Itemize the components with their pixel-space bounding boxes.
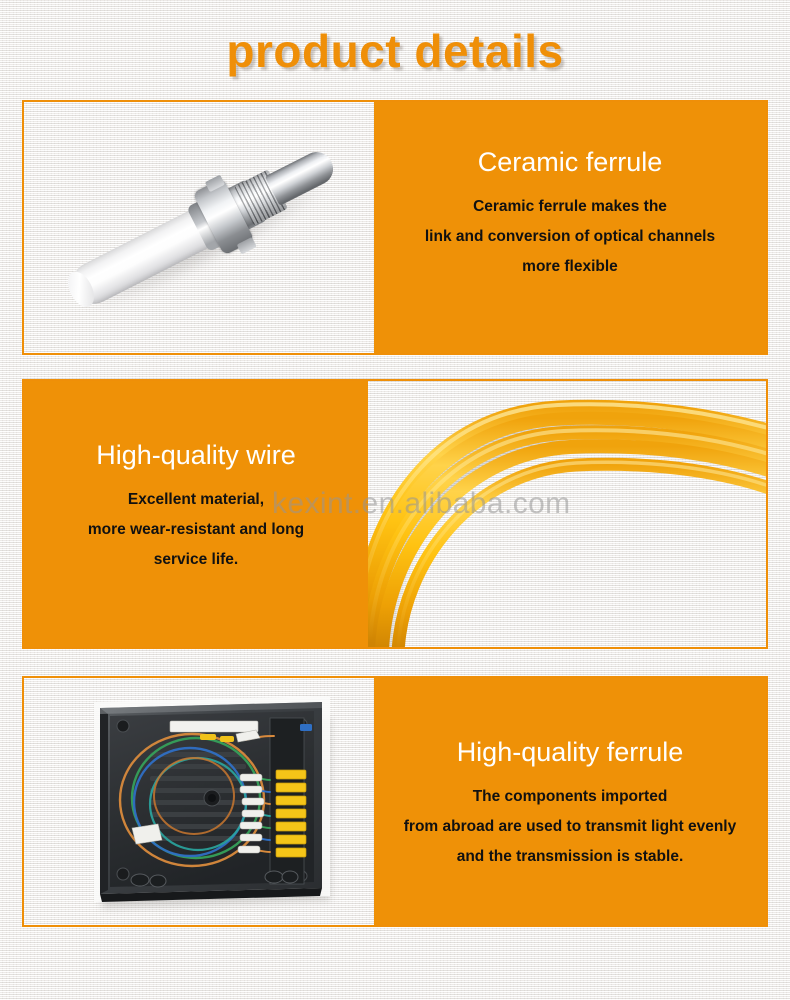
panel-body-line: link and conversion of optical channels: [425, 222, 715, 252]
panel-heading: Ceramic ferrule: [478, 148, 663, 178]
ceramic-ferrule-illustration: [24, 102, 374, 353]
panel-body-line: service life.: [88, 545, 304, 575]
panel-body-line: The components imported: [404, 782, 736, 812]
product-image-ceramic-ferrule: [24, 102, 374, 353]
yellow-fiber-cable-illustration: [368, 381, 766, 647]
panel-body-line: from abroad are used to transmit light e…: [404, 812, 736, 842]
panel-high-quality-wire: High-quality wire Excellent material, mo…: [22, 379, 768, 649]
panel-text-ceramic-ferrule: Ceramic ferrule Ceramic ferrule makes th…: [374, 102, 766, 353]
panel-body-line: Ceramic ferrule makes the: [425, 192, 715, 222]
panel-high-quality-ferrule: High-quality ferrule The components impo…: [22, 676, 768, 927]
panel-body: Excellent material, more wear-resistant …: [82, 485, 310, 576]
fiber-terminal-box-illustration: [24, 678, 374, 925]
panel-body-line: Excellent material,: [88, 485, 304, 515]
product-image-yellow-cable: [368, 381, 766, 647]
panel-heading: High-quality wire: [96, 441, 296, 471]
panel-body-line: more wear-resistant and long: [88, 515, 304, 545]
panel-body: The components imported from abroad are …: [398, 782, 742, 873]
panel-text-high-quality-wire: High-quality wire Excellent material, mo…: [24, 381, 368, 647]
panel-body-line: and the transmission is stable.: [404, 842, 736, 872]
panel-body: Ceramic ferrule makes the link and conve…: [419, 192, 721, 283]
panel-heading: High-quality ferrule: [457, 738, 684, 768]
panel-text-high-quality-ferrule: High-quality ferrule The components impo…: [374, 678, 766, 925]
page-background: product details Ceramic ferr: [0, 0, 790, 1000]
panel-ceramic-ferrule: Ceramic ferrule Ceramic ferrule makes th…: [22, 100, 768, 355]
page-title: product details: [0, 24, 790, 78]
product-image-terminal-box: [24, 678, 374, 925]
panel-body-line: more flexible: [425, 252, 715, 282]
